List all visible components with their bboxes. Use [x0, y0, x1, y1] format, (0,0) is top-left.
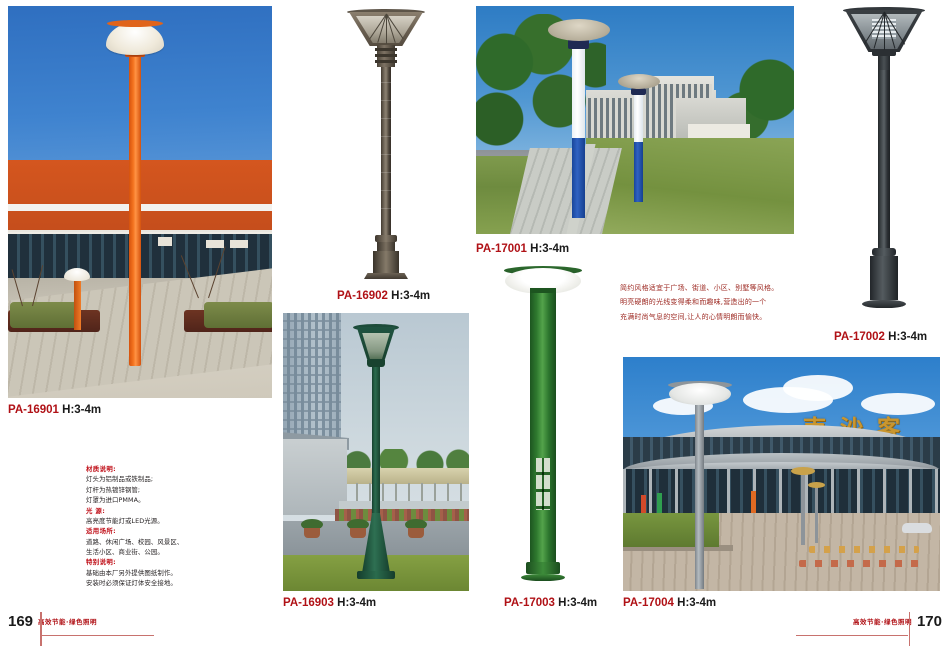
building-window: [206, 240, 224, 248]
spec-place-heading: 适用场所:: [86, 526, 226, 536]
product-dimension: H:3-4m: [888, 331, 927, 343]
lamp-head: [548, 19, 610, 41]
podium-building: [283, 439, 347, 515]
lamp-column: [530, 288, 556, 572]
footer-tagline: 高效节能·绿色照明: [33, 616, 102, 626]
lamp-head: [618, 74, 660, 89]
product-dimension: H:3-4m: [558, 597, 597, 609]
footer-horizontal-rule: [42, 635, 154, 637]
product-code: PA-17001: [476, 243, 527, 255]
lamp-rim: [107, 20, 163, 27]
parked-car: [902, 523, 932, 533]
lamp-pole-lower: [572, 138, 585, 218]
pole-twist-line: [381, 136, 391, 137]
lamp-pole: [878, 70, 890, 248]
spec-note-line: 基础由本厂另外提供图纸制作。: [86, 568, 226, 578]
pole-base-body: [870, 256, 898, 300]
spec-note-line: 安装时必须保证灯体安全接地。: [86, 578, 226, 588]
product-photo-pa-16903: [283, 313, 469, 591]
page-number-left: 169: [8, 613, 33, 630]
banner: [657, 493, 662, 515]
lamp-pole: [129, 46, 141, 366]
spec-source-line: 高亮度节能灯或LED光源。: [86, 516, 226, 526]
footer-right: 高效节能·绿色照明 170: [848, 610, 942, 632]
plant-pot: [350, 528, 366, 538]
product-photo-pa-16902: [330, 4, 442, 282]
pole-base-ring: [375, 235, 397, 242]
pole-base-body: [373, 251, 399, 273]
product-code: PA-16902: [337, 290, 388, 302]
column-base: [526, 562, 560, 574]
product-dimension: H:3-4m: [337, 597, 376, 609]
lamp-bottom: [367, 360, 385, 367]
lawn: [623, 513, 719, 547]
product-code: PA-17002: [834, 331, 885, 343]
caption-pa-17003: PA-17003 H:3-4m: [504, 597, 597, 609]
product-code: PA-16901: [8, 404, 59, 416]
product-code: PA-16903: [283, 597, 334, 609]
pole-twist-line: [381, 172, 391, 173]
secondary-lamp-head: [808, 482, 825, 488]
lawn: [204, 302, 272, 328]
catalog-spread: PA-16901 H:3-4m PA-16902 H:3-4m: [0, 0, 950, 654]
product-dimension: H:3-4m: [391, 290, 430, 302]
column-base-plate: [521, 574, 565, 581]
spec-material-line: 灯头为铝制品或铁制品;: [86, 474, 226, 484]
footer-tagline: 高效节能·绿色照明: [848, 616, 917, 626]
plant-pot: [304, 528, 320, 538]
pole-twist-line: [381, 208, 391, 209]
spec-material-heading: 材质说明:: [86, 464, 226, 474]
pergola-roof: [343, 468, 469, 484]
caption-pa-17004: PA-17004 H:3-4m: [623, 597, 716, 609]
lamp-collar: [631, 88, 646, 95]
product-code: PA-17004: [623, 597, 674, 609]
secondary-lamp-head: [791, 467, 815, 475]
footer-vertical-rule: [40, 612, 42, 646]
building-window: [230, 240, 248, 248]
column-cap: [530, 288, 556, 293]
secondary-lamp-post: [74, 278, 81, 330]
pole-twist-line: [381, 100, 391, 101]
caption-pa-17001: PA-17001 H:3-4m: [476, 243, 569, 255]
spec-place-line: 生活小区、商业街、公园。: [86, 547, 226, 557]
product-photo-pa-17001: [476, 6, 794, 234]
secondary-lamp-post: [815, 485, 818, 543]
intro-line: 明亮硬朗的光线变得柔和而趣味,营造出的一个: [620, 295, 830, 309]
secondary-lamp-head: [64, 268, 90, 281]
pole-base-plate: [357, 571, 395, 579]
lamp-pole: [372, 367, 380, 517]
specification-block: 材质说明: 灯头为铝制品或铁制品; 灯杆为热镀锌钢管; 灯罩为进口PMMA。 光…: [86, 464, 226, 589]
spec-note-heading: 特别说明:: [86, 557, 226, 567]
lamp-neck: [878, 56, 890, 70]
product-dimension: H:3-4m: [62, 404, 101, 416]
intro-paragraph: 简约风格适宜于广场、街道、小区、别墅等风格。 明亮硬朗的光线变得柔和而趣味,营造…: [620, 281, 830, 324]
caption-pa-16901: PA-16901 H:3-4m: [8, 404, 101, 416]
column-light-window: [536, 458, 550, 510]
spec-place-line: 道路、休闲广场、校园、风景区、: [86, 537, 226, 547]
caption-pa-16902: PA-16902 H:3-4m: [337, 290, 430, 302]
lawn: [10, 302, 80, 328]
pole-twist-line: [381, 82, 391, 83]
intro-line: 充满时尚气息的空间,让人的心情明朗而愉快。: [620, 310, 830, 324]
pole-base-plate: [862, 300, 906, 308]
product-photo-pa-17004: 南沙客: [623, 357, 940, 591]
pole-twist-line: [381, 190, 391, 191]
caption-pa-17002: PA-17002 H:3-4m: [834, 331, 927, 343]
intro-line: 简约风格适宜于广场、街道、小区、别墅等风格。: [620, 281, 830, 295]
caption-pa-16903: PA-16903 H:3-4m: [283, 597, 376, 609]
collar-ring: [375, 54, 397, 57]
lamp-head: [669, 383, 731, 405]
collar-ring: [375, 48, 397, 51]
spec-material-line: 灯杆为热镀锌钢管;: [86, 485, 226, 495]
product-dimension: H:3-4m: [530, 243, 569, 255]
building-window: [158, 237, 172, 246]
paving-pattern: [809, 546, 919, 553]
facade-columns: [623, 469, 940, 517]
product-photo-pa-17002: [828, 4, 940, 320]
footer-left: 169 高效节能·绿色照明: [8, 610, 102, 632]
pole-twist-line: [381, 154, 391, 155]
pole-base-ring: [872, 248, 896, 256]
pole-base-mid: [377, 242, 395, 251]
cloud: [783, 375, 853, 401]
pole-twist-line: [381, 118, 391, 119]
collar-ring: [375, 60, 397, 63]
pole-base-plate: [364, 273, 408, 279]
page-number-right: 170: [917, 613, 942, 630]
lamp-pole-lower: [634, 142, 643, 202]
product-photo-pa-16901: [8, 6, 272, 398]
product-photo-pa-17003: [497, 262, 589, 592]
lamp-pole: [381, 67, 391, 235]
product-dimension: H:3-4m: [677, 597, 716, 609]
paving-pattern: [799, 560, 919, 567]
product-code: PA-17003: [504, 597, 555, 609]
plant-pot: [408, 528, 424, 538]
banner: [751, 491, 756, 513]
secondary-lamp-post: [801, 471, 805, 545]
lamp-pole: [695, 405, 704, 589]
footer-vertical-rule: [909, 612, 911, 646]
spec-source-heading: 光 源:: [86, 506, 226, 516]
spec-material-line: 灯罩为进口PMMA。: [86, 495, 226, 505]
footer-horizontal-rule: [796, 635, 908, 637]
